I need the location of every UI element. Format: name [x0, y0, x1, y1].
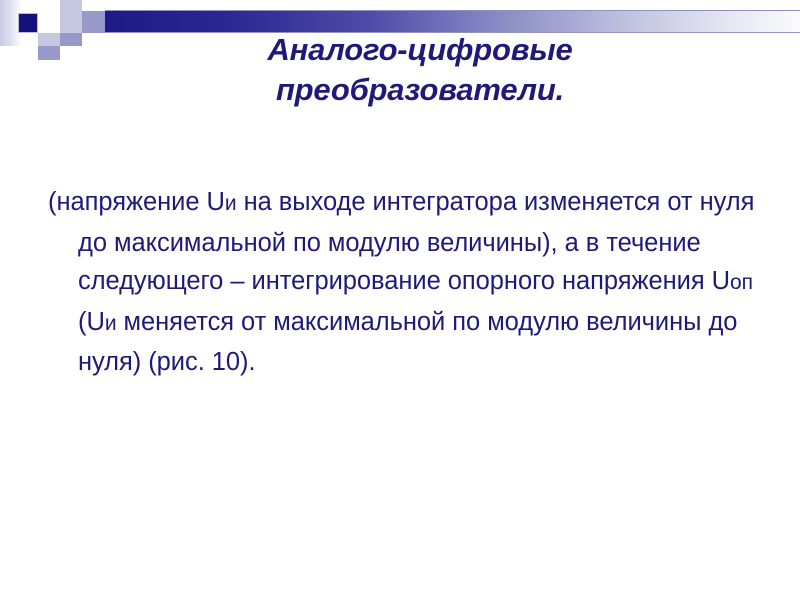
body-text-run-5: и: [105, 312, 117, 335]
decorative-square-dark: [18, 13, 38, 33]
decorative-square-mid-a: [82, 11, 105, 33]
body-text-run-0: (напряжение U: [48, 188, 225, 216]
decorative-square-pale-top: [60, 0, 82, 11]
body-text-run-6: меняется от максимальной по модулю велич…: [78, 308, 737, 377]
body-text-run-4: (U: [78, 308, 105, 336]
slide-body-text: (напряжение Uи на выходе интегратора изм…: [48, 183, 778, 382]
slide-title: Аналого-цифровые преобразователи.: [120, 30, 720, 110]
decorative-square-mid-c: [38, 46, 60, 60]
decorative-square-mid-b: [60, 33, 82, 46]
body-text-run-1: и: [225, 192, 237, 215]
decorative-square-pale-b: [38, 33, 60, 46]
decorative-square-pale-a: [60, 11, 82, 33]
slide-canvas: Аналого-цифровые преобразователи. (напря…: [0, 0, 800, 600]
body-text-run-3: оп: [730, 271, 753, 294]
